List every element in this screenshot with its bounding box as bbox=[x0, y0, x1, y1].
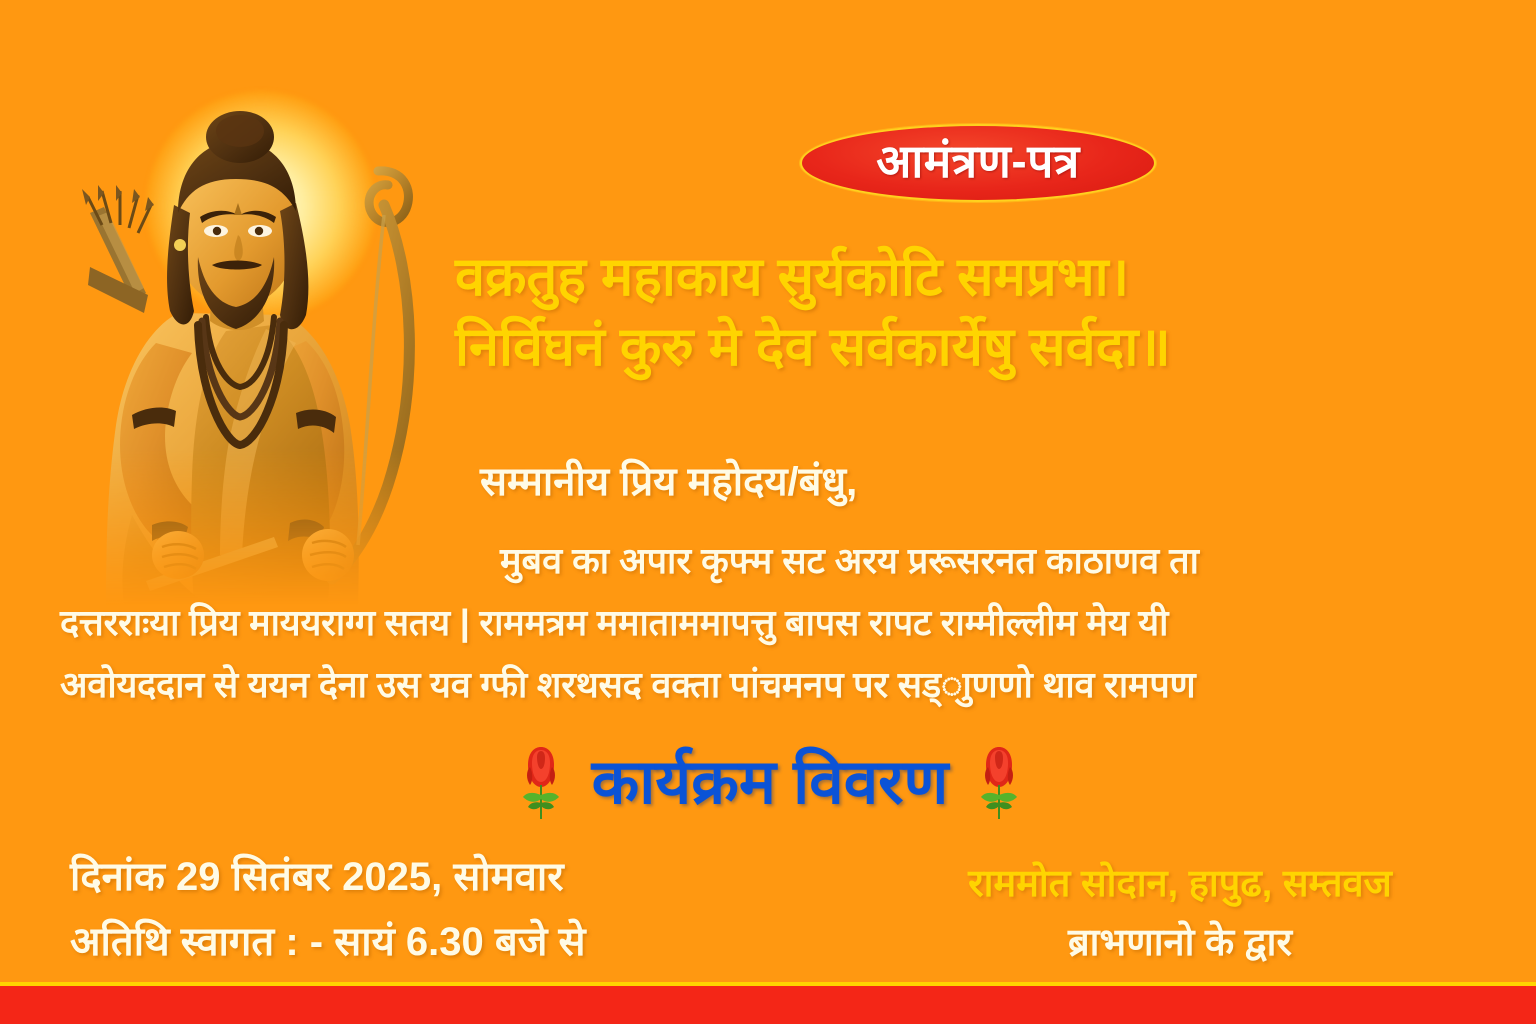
body-line-1: मुबव का अपार कृफ्म सट अरय प्ररूसरनत काठा… bbox=[60, 530, 1490, 592]
rose-icon bbox=[978, 745, 1020, 821]
bottom-border-bar bbox=[0, 986, 1536, 1024]
event-date: दिनांक 29 सितंबर 2025, सोमवार bbox=[70, 845, 586, 910]
lord-rama-illustration bbox=[28, 85, 448, 605]
shloka-line-1: वक्रतुह महाकाय सुर्यकोटि समप्रभा। bbox=[455, 242, 1515, 312]
invitation-badge-label: आमंत्रण-पत्र bbox=[876, 138, 1080, 188]
shloka-block: वक्रतुह महाकाय सुर्यकोटि समप्रभा। निर्वि… bbox=[455, 242, 1515, 382]
program-heading: कार्यक्रम विवरण bbox=[400, 745, 1140, 821]
rose-icon bbox=[520, 745, 562, 821]
event-time: अतिथि स्वागत : - सायं 6.30 बजे से bbox=[70, 910, 586, 975]
event-venue: राममोत सोदान, हापुढ, सम्तवज ब्राभणानो के… bbox=[880, 855, 1480, 973]
event-schedule: दिनांक 29 सितंबर 2025, सोमवार अतिथि स्वा… bbox=[70, 845, 586, 975]
body-line-3: अवोयददान से ययन देना उस यव ग्फी शरथसद वक… bbox=[60, 654, 1490, 716]
program-title: कार्यक्रम विवरण bbox=[592, 752, 949, 814]
body-paragraph: मुबव का अपार कृफ्म सट अरय प्ररूसरनत काठा… bbox=[60, 530, 1490, 716]
shloka-line-2: निर्विघनं कुरु मे देव सर्वकार्येषु सर्वद… bbox=[455, 312, 1515, 382]
salutation-text: सम्मानीय प्रिय महोदय/बंधु, bbox=[480, 452, 857, 507]
venue-secondary: ब्राभणानो के द्वार bbox=[880, 914, 1480, 973]
invitation-card: आमंत्रण-पत्र वक्रतुह महाकाय सुर्यकोटि सम… bbox=[0, 0, 1536, 1024]
deity-figure-icon bbox=[28, 85, 448, 605]
invitation-badge: आमंत्रण-पत्र bbox=[800, 124, 1156, 202]
venue-primary: राममोत सोदान, हापुढ, सम्तवज bbox=[880, 855, 1480, 914]
body-line-2: दत्तरराःया प्रिय माययराग्ग सतय | राममत्र… bbox=[60, 592, 1490, 654]
